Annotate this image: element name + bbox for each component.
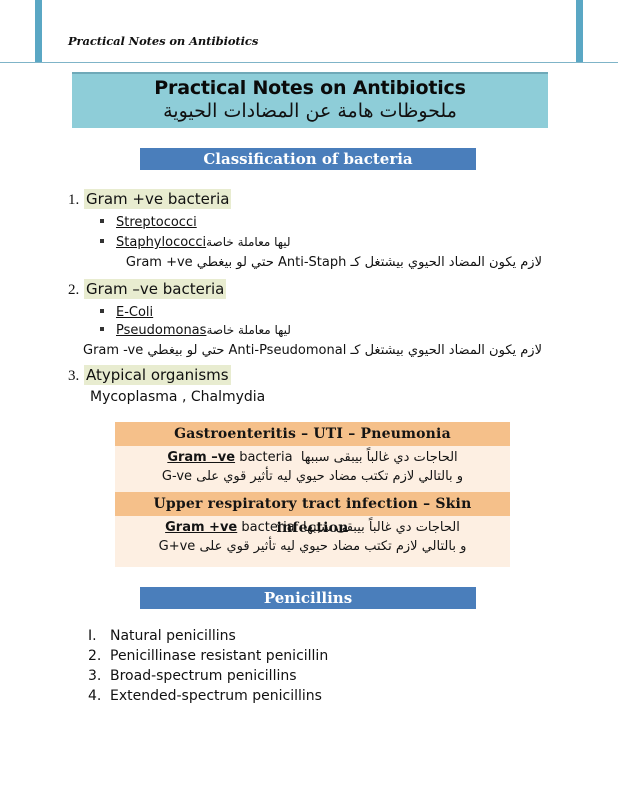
bullet-label: E-Coli xyxy=(116,305,153,320)
infection-box-line2-gram-positive: و بالتالي لازم تكتب مضاد حيوي ليه تأثير … xyxy=(127,538,498,557)
infection-box-body-gram-negative: الحاجات دي غالباً بيبقى سببها Gram –ve b… xyxy=(115,446,510,492)
document-title-box: Practical Notes on Antibiotics ملحوظات ه… xyxy=(72,72,548,128)
section-banner-classification: Classification of bacteria xyxy=(140,148,476,170)
header-accent-bar-left xyxy=(35,0,42,62)
note-gram-positive-arabic: لازم يكون المضاد الحيوي بيشتغل كـ Anti-S… xyxy=(68,255,542,270)
bullet-label: Staphylococci xyxy=(116,235,206,250)
running-title: Practical Notes on Antibiotics xyxy=(68,34,258,48)
note-gram-negative-arabic: لازم يكون المضاد الحيوي بيشتغل كـ Anti-P… xyxy=(58,343,542,358)
bullet-note-arabic: ليها معاملة خاصة xyxy=(206,235,291,249)
list-item-label: Extended-spectrum penicillins xyxy=(110,688,322,704)
bullet-note-arabic: ليها معاملة خاصة xyxy=(206,323,291,337)
document-title-arabic: ملحوظات هامة عن المضادات الحيوية xyxy=(72,99,548,123)
infection-box-line1-gram-negative: الحاجات دي غالباً بيبقى سببها Gram –ve b… xyxy=(127,449,498,468)
bullet-e-coli: E-Coli xyxy=(100,305,153,320)
header-divider-rule xyxy=(0,62,618,63)
list-marker: 2. xyxy=(88,648,110,664)
penicillin-list-item-2: 2.Penicillinase resistant penicillin xyxy=(88,648,328,664)
list-item-label: Penicillinase resistant penicillin xyxy=(110,648,328,664)
infection-box-heading-gram-positive: Upper respiratory tract infection – Skin… xyxy=(115,492,510,516)
penicillin-list-item-4: 4.Extended-spectrum penicillins xyxy=(88,688,322,704)
infection-boxes-group: Gastroenteritis – UTI – Pneumonia الحاجا… xyxy=(115,422,510,567)
list-marker: I. xyxy=(88,628,110,644)
infection-box-arabic-prefix: الحاجات دي غالباً بيبقى سببها xyxy=(301,450,458,465)
list-item-label: Natural penicillins xyxy=(110,628,236,644)
document-title-english: Practical Notes on Antibiotics xyxy=(72,74,548,99)
bacteria-word: bacteria xyxy=(239,450,292,465)
infection-box-bottom-spacer xyxy=(115,561,510,567)
square-bullet-icon xyxy=(100,239,104,243)
page-header: Practical Notes on Antibiotics xyxy=(0,0,618,63)
list-item-label: Gram –ve bacteria xyxy=(84,279,226,299)
header-accent-bar-right xyxy=(576,0,583,62)
square-bullet-icon xyxy=(100,309,104,313)
gram-label: Gram –ve xyxy=(167,450,235,465)
list-marker: 3. xyxy=(88,668,110,684)
bacteria-word: bacteria xyxy=(241,520,294,535)
list-marker: 2. xyxy=(68,282,79,298)
atypical-organisms-examples: Mycoplasma , Chalmydia xyxy=(90,389,265,405)
list-item-gram-negative: 2. Gram –ve bacteria xyxy=(68,280,226,299)
list-item-label: Broad-spectrum penicillins xyxy=(110,668,297,684)
section-banner-penicillins: Penicillins xyxy=(140,587,476,609)
gram-label: Gram +ve xyxy=(165,520,237,535)
list-marker: 3. xyxy=(68,368,79,384)
list-marker: 1. xyxy=(68,192,79,208)
bullet-pseudomonas: Pseudomonasليها معاملة خاصة xyxy=(100,323,299,338)
infection-box-line2-gram-negative: و بالتالي لازم تكتب مضاد حيوي ليه تأثير … xyxy=(127,468,498,487)
bullet-staphylococci: Staphylococciليها معاملة خاصة xyxy=(100,235,299,250)
list-item-gram-positive: 1. Gram +ve bacteria xyxy=(68,190,231,209)
list-item-atypical-organisms: 3. Atypical organisms xyxy=(68,366,231,385)
square-bullet-icon xyxy=(100,219,104,223)
infection-box-arabic-prefix: الحاجات دي غالباً بيبقى سببها xyxy=(303,520,460,535)
list-marker: 4. xyxy=(88,688,110,704)
square-bullet-icon xyxy=(100,327,104,331)
bullet-streptococci: Streptococci xyxy=(100,215,197,230)
infection-box-heading-gram-negative: Gastroenteritis – UTI – Pneumonia xyxy=(115,422,510,446)
list-item-label: Atypical organisms xyxy=(84,365,231,385)
bullet-label: Streptococci xyxy=(116,215,197,230)
penicillin-list-item-1: I.Natural penicillins xyxy=(88,628,236,644)
bullet-label: Pseudomonas xyxy=(116,323,206,338)
penicillin-list-item-3: 3.Broad-spectrum penicillins xyxy=(88,668,297,684)
list-item-label: Gram +ve bacteria xyxy=(84,189,231,209)
infection-box-body-gram-positive: الحاجات دي غالباً بيبقى سببها Gram +ve b… xyxy=(115,516,510,562)
infection-box-line1-gram-positive: الحاجات دي غالباً بيبقى سببها Gram +ve b… xyxy=(127,519,498,538)
